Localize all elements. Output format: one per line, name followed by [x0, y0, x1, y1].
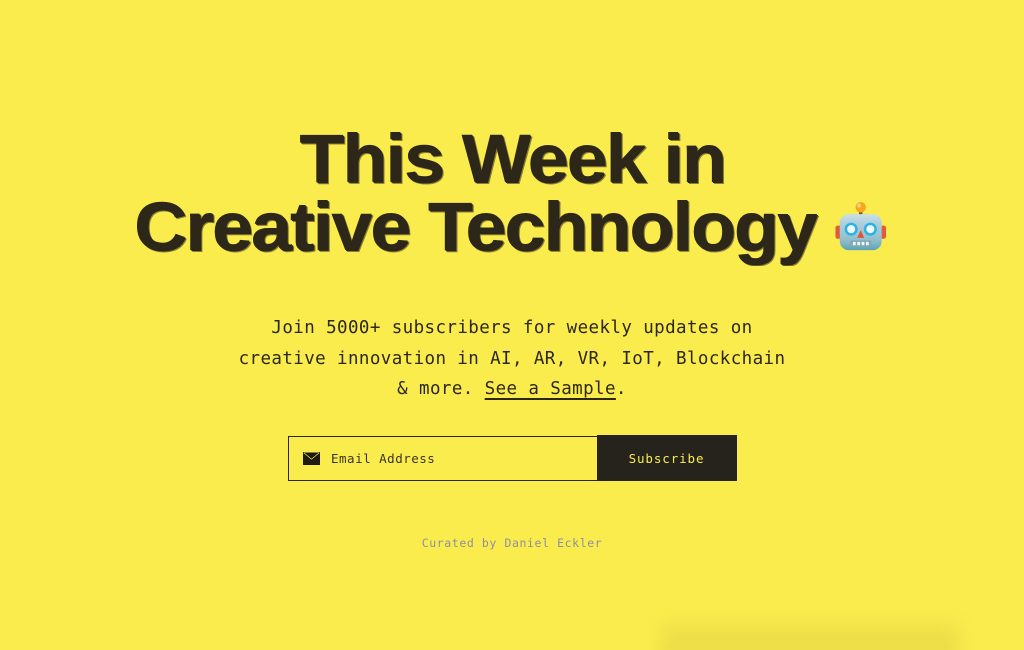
subtitle-line-1: Join 5000+ subscribers for weekly update…: [271, 318, 752, 338]
subtitle-line-3-suffix: .: [616, 379, 627, 399]
footer-credit: Curated by Daniel Eckler: [422, 536, 603, 550]
subscribe-button[interactable]: Subscribe: [597, 435, 737, 481]
see-a-sample-link[interactable]: See a Sample: [485, 379, 616, 399]
headline-line-1: This Week in: [35, 131, 989, 187]
headline-line-2: Creative Technology: [134, 188, 816, 265]
robot-face-emoji: [832, 202, 888, 258]
landing-page: This Week in Creative Technology: [0, 0, 1024, 650]
page-title: This Week in Creative Technology: [35, 131, 989, 258]
subtitle: Join 5000+ subscribers for weekly update…: [162, 313, 862, 405]
subtitle-line-3-prefix: & more.: [397, 379, 485, 399]
headline-line-2-wrap: Creative Technology: [35, 199, 989, 258]
subtitle-line-2: creative innovation in AI, AR, VR, IoT, …: [239, 349, 786, 369]
email-field-wrapper: [289, 437, 597, 480]
email-input[interactable]: [331, 437, 597, 480]
envelope-icon: [303, 452, 320, 465]
newsletter-signup-form: Subscribe: [288, 436, 736, 481]
below-fold-shadow: [660, 624, 960, 650]
